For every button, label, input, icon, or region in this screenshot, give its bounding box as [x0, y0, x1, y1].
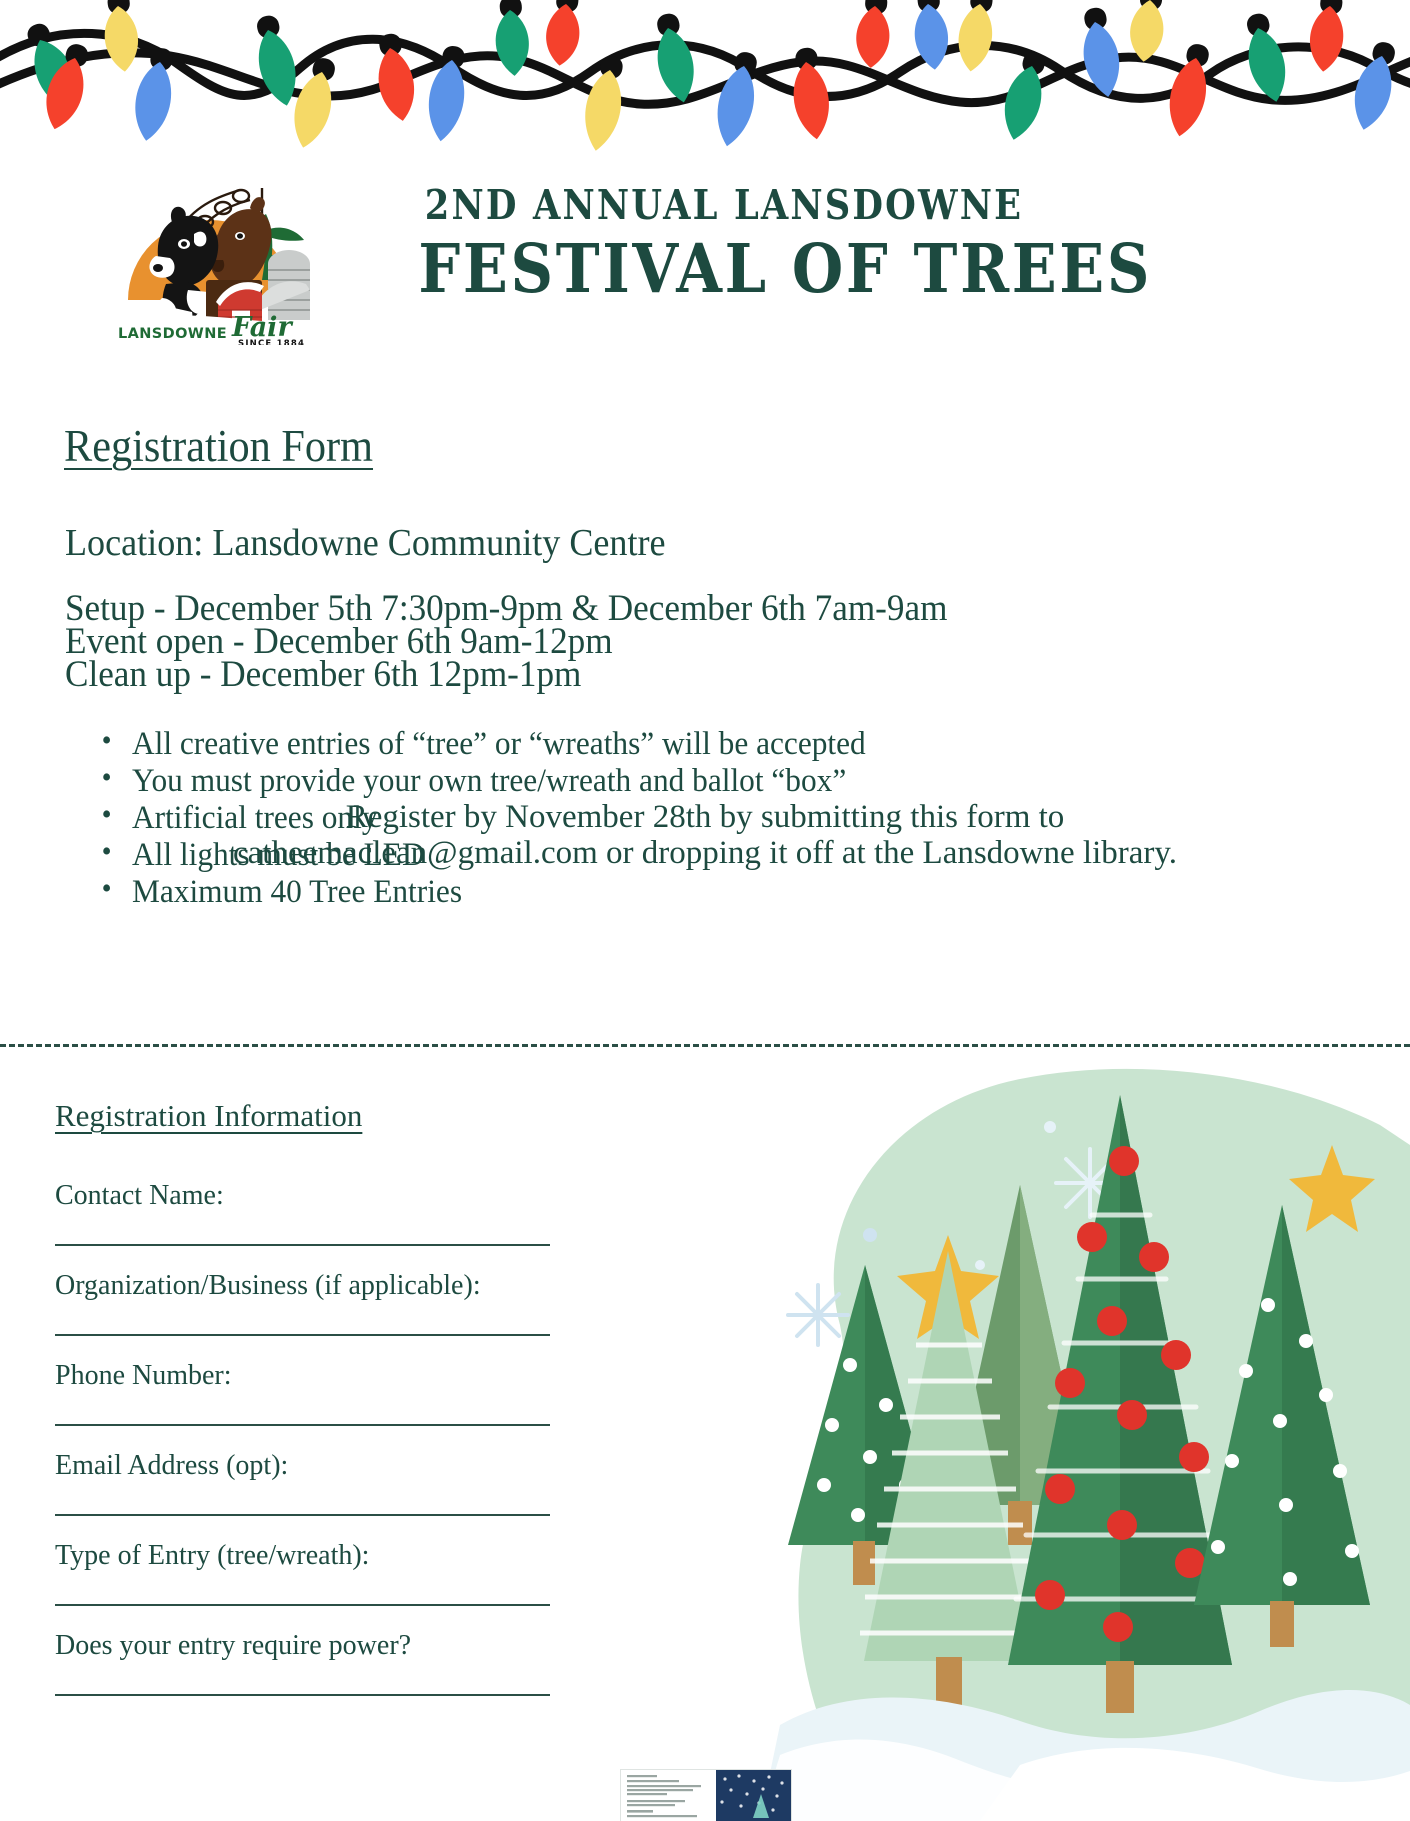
list-item: Maximum 40 Tree Entries	[132, 876, 866, 909]
registration-information-heading: Registration Information	[55, 1098, 362, 1134]
title-line-2: FESTIVAL OF TREES	[418, 234, 981, 304]
field-write-line[interactable]	[55, 1604, 550, 1606]
field-type-of-entry[interactable]: Type of Entry (tree/wreath):	[55, 1540, 550, 1606]
field-label: Type of Entry (tree/wreath):	[55, 1540, 550, 1572]
list-item: All creative entries of “tree” or “wreat…	[132, 728, 866, 761]
logo-wordmark: LANSDOWNE	[118, 326, 227, 342]
dashed-cut-divider	[0, 1044, 1410, 1047]
field-phone-number[interactable]: Phone Number:	[55, 1360, 550, 1426]
register-instructions: Register by November 28th by submitting …	[105, 800, 1305, 871]
field-write-line[interactable]	[55, 1514, 550, 1516]
field-label: Contact Name:	[55, 1180, 550, 1212]
field-write-line[interactable]	[55, 1694, 550, 1696]
title-line-1: 2ND ANNUAL LANSDOWNE	[425, 185, 975, 226]
logo-since: SINCE 1884	[238, 339, 305, 345]
field-organization[interactable]: Organization/Business (if applicable):	[55, 1270, 550, 1336]
title-block: 2ND ANNUAL LANSDOWNE FESTIVAL OF TREES	[380, 185, 1020, 304]
location-line: Location: Lansdowne Community Centre	[65, 521, 666, 565]
field-contact-name[interactable]: Contact Name:	[55, 1180, 550, 1246]
flyer-page: LANSDOWNE Fair SINCE 1884 2ND ANNUAL LAN…	[0, 0, 1410, 1821]
field-write-line[interactable]	[55, 1334, 550, 1336]
lansdowne-fair-logo: LANSDOWNE Fair SINCE 1884	[110, 160, 325, 345]
winter-trees-illustration	[720, 1065, 1410, 1821]
christmas-lights-garland	[0, 0, 1410, 160]
registration-form-heading: Registration Form	[64, 420, 373, 472]
schedule-line-cleanup: Clean up - December 6th 12pm-1pm	[65, 653, 581, 696]
field-label: Phone Number:	[55, 1360, 550, 1392]
field-write-line[interactable]	[55, 1424, 550, 1426]
field-label: Organization/Business (if applicable):	[55, 1270, 550, 1302]
field-label: Email Address (opt):	[55, 1450, 550, 1482]
field-requires-power[interactable]: Does your entry require power?	[55, 1630, 550, 1696]
register-line-2: catheemaclean@gmail.com or dropping it o…	[105, 836, 1305, 872]
field-write-line[interactable]	[55, 1244, 550, 1246]
flyer-header: LANSDOWNE Fair SINCE 1884 2ND ANNUAL LAN…	[0, 160, 1410, 360]
field-email-address[interactable]: Email Address (opt):	[55, 1450, 550, 1516]
list-item: You must provide your own tree/wreath an…	[132, 765, 866, 798]
document-page-thumbnail[interactable]	[620, 1769, 792, 1821]
register-line-1: Register by November 28th by submitting …	[105, 800, 1305, 836]
field-label: Does your entry require power?	[55, 1630, 550, 1662]
